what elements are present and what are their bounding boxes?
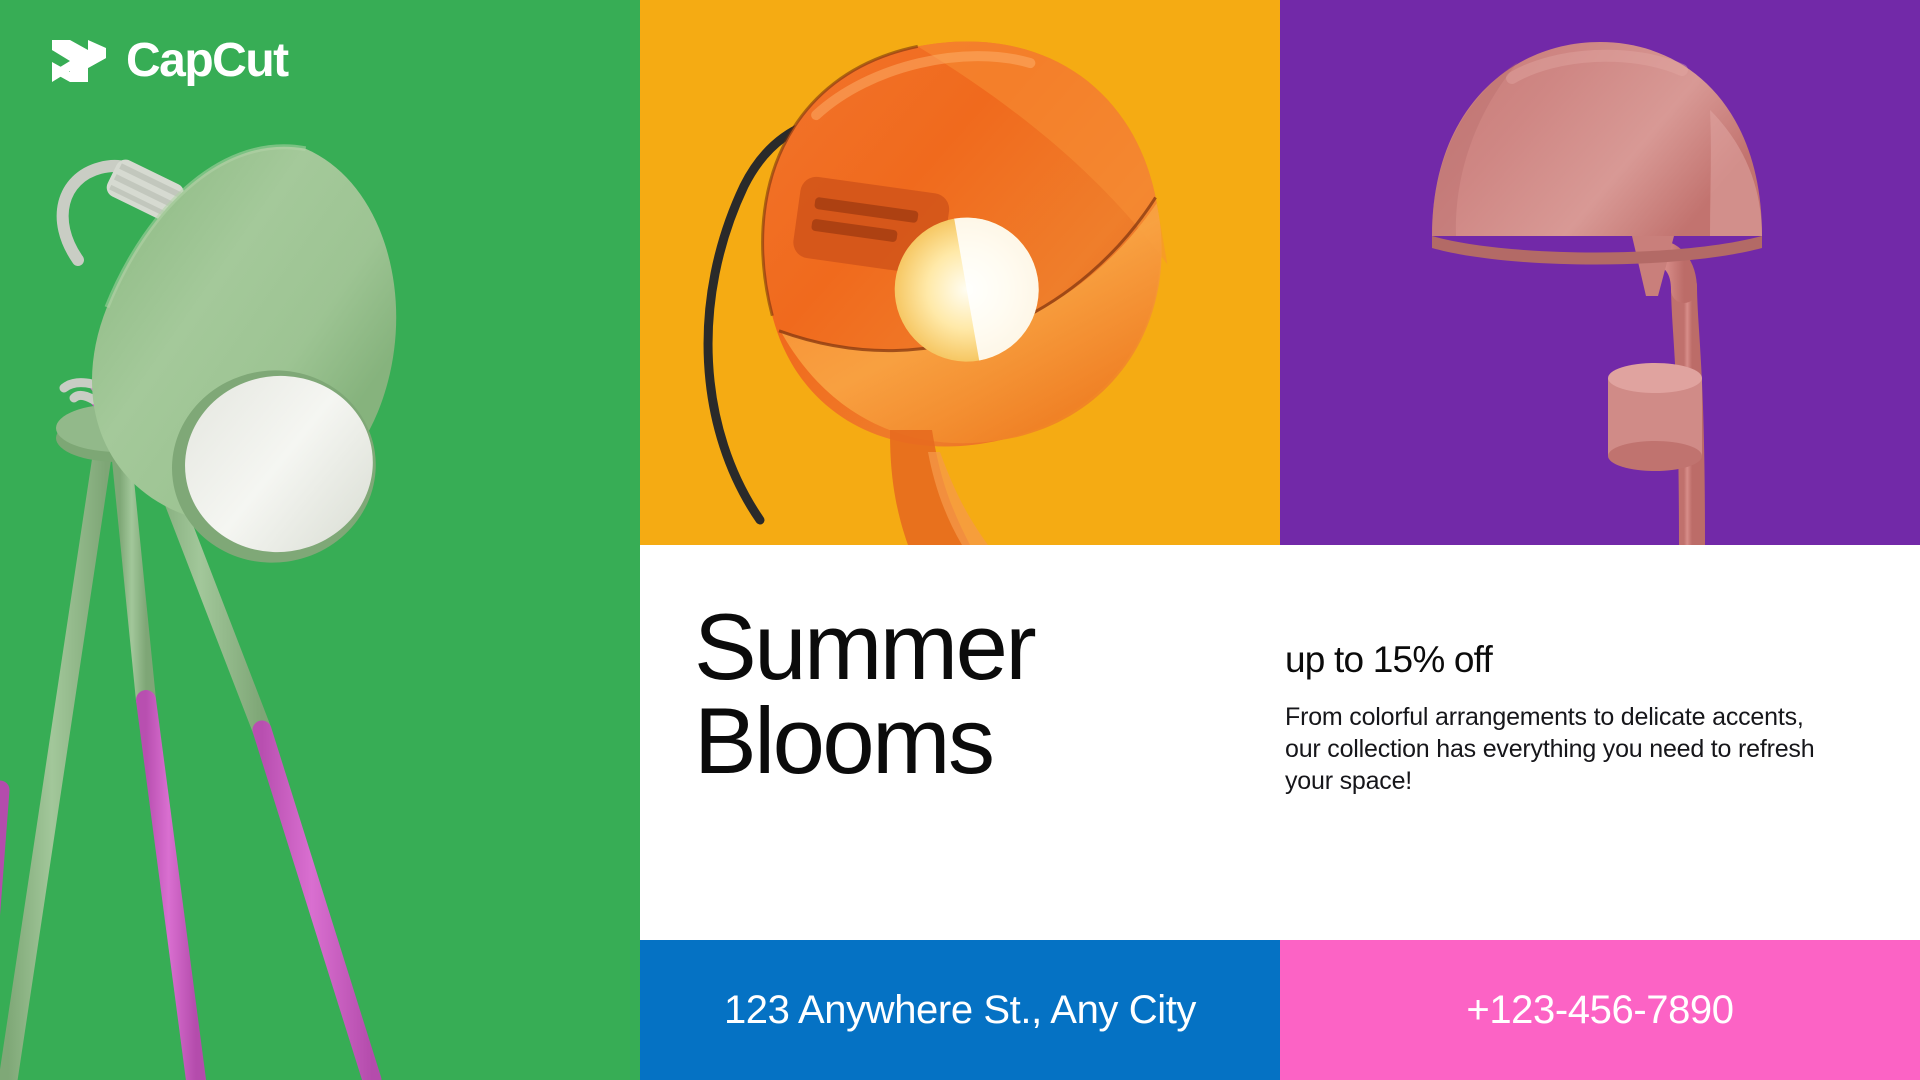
offer-description: From colorful arrangements to delicate a…	[1285, 701, 1830, 797]
offer-block: up to 15% off From colorful arrangements…	[1285, 640, 1845, 797]
promo-poster: CapCut Summer Blooms up to 15% off From …	[0, 0, 1920, 1080]
green-tripod-lamp-photo	[0, 0, 640, 1080]
offer-title: up to 15% off	[1285, 640, 1845, 681]
capcut-logo-text: CapCut	[126, 37, 288, 85]
pink-dome-table-lamp-photo	[1280, 0, 1920, 545]
orange-translucent-dome-lamp-photo	[640, 0, 1280, 545]
page-title: Summer Blooms	[694, 600, 1114, 788]
address-label: 123 Anywhere St., Any City	[640, 940, 1280, 1080]
capcut-logo: CapCut	[48, 36, 288, 86]
phone-label: +123-456-7890	[1280, 940, 1920, 1080]
capcut-logo-icon	[48, 36, 110, 86]
